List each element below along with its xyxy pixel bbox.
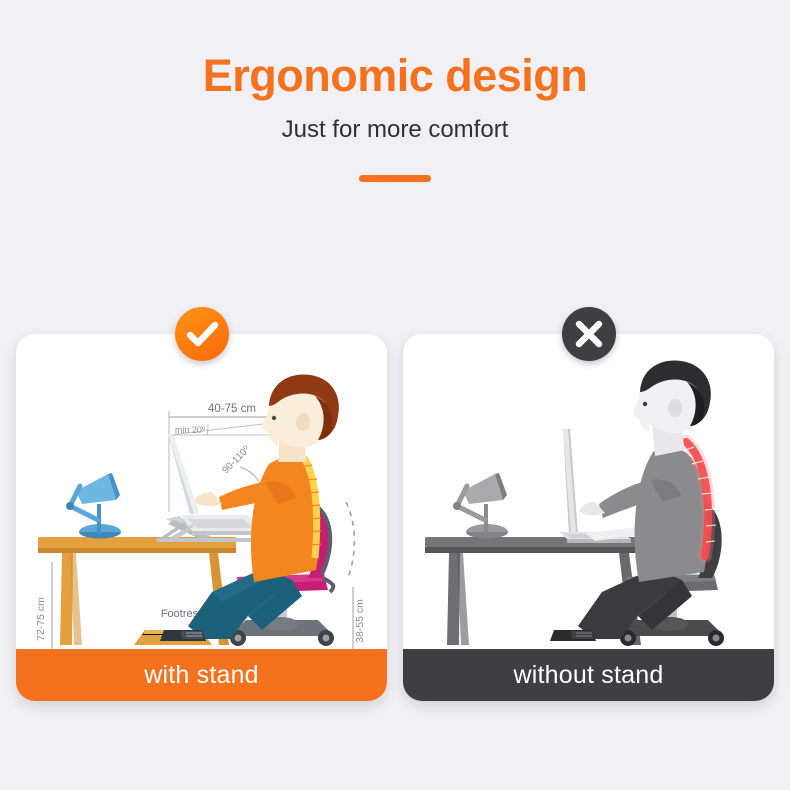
label-desk-height: 72-75 cm	[35, 597, 47, 641]
ergonomic-correct-illustration: 72-75 cm 38-55 cm 40-75 cm min 20º	[16, 334, 387, 649]
label-elbow-angle: 90-110º	[220, 444, 252, 476]
comparison-panels: 72-75 cm 38-55 cm 40-75 cm min 20º	[0, 334, 790, 701]
label-view-angle: min 20º	[175, 425, 206, 435]
label-seat-height: 38-55 cm	[354, 599, 366, 643]
check-icon	[175, 307, 229, 361]
page-header: Ergonomic design Just for more comfort	[0, 0, 790, 182]
panel-with-stand-illustration: 72-75 cm 38-55 cm 40-75 cm min 20º	[16, 334, 387, 701]
page-subtitle: Just for more comfort	[0, 116, 790, 144]
ergonomic-incorrect-illustration	[403, 334, 774, 649]
panel-without-stand-illustration	[403, 334, 774, 701]
panel-with-stand[interactable]: 72-75 cm 38-55 cm 40-75 cm min 20º	[16, 334, 387, 701]
footer-label-without-stand: without stand	[403, 649, 774, 701]
page-title: Ergonomic design	[0, 52, 790, 99]
cross-icon	[562, 307, 616, 361]
panel-without-stand[interactable]: without stand	[403, 334, 774, 701]
label-viewing-distance: 40-75 cm	[208, 403, 256, 415]
orange-divider	[359, 175, 431, 182]
footer-label-with-stand: with stand	[16, 649, 387, 701]
